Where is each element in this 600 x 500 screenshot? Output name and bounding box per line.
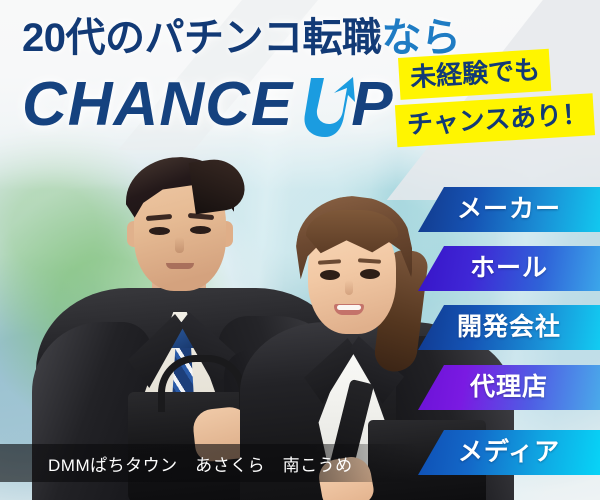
tag-label: メディア bbox=[458, 440, 560, 465]
tag-media[interactable]: メディア bbox=[418, 430, 600, 475]
credit-text: DMMぱちタウン あさくら 南こうめ bbox=[0, 451, 353, 476]
category-tag-list: メーカー ホール 開発会社 代理店 メディア bbox=[0, 0, 600, 500]
tag-maker[interactable]: メーカー bbox=[418, 187, 600, 232]
tag-label: 開発会社 bbox=[457, 315, 561, 340]
tag-development-company[interactable]: 開発会社 bbox=[418, 305, 600, 350]
tag-agency[interactable]: 代理店 bbox=[418, 365, 600, 410]
tag-label: メーカー bbox=[457, 197, 561, 222]
tag-hall[interactable]: ホール bbox=[418, 246, 600, 291]
advertisement-banner[interactable]: 20代のパチンコ転職なら CHANCEUP 未経験でも チャンスあり！ メーカー… bbox=[0, 0, 600, 500]
credit-bar: DMMぱちタウン あさくら 南こうめ bbox=[0, 444, 420, 482]
tag-label: 代理店 bbox=[470, 375, 548, 400]
tag-label: ホール bbox=[470, 256, 548, 281]
